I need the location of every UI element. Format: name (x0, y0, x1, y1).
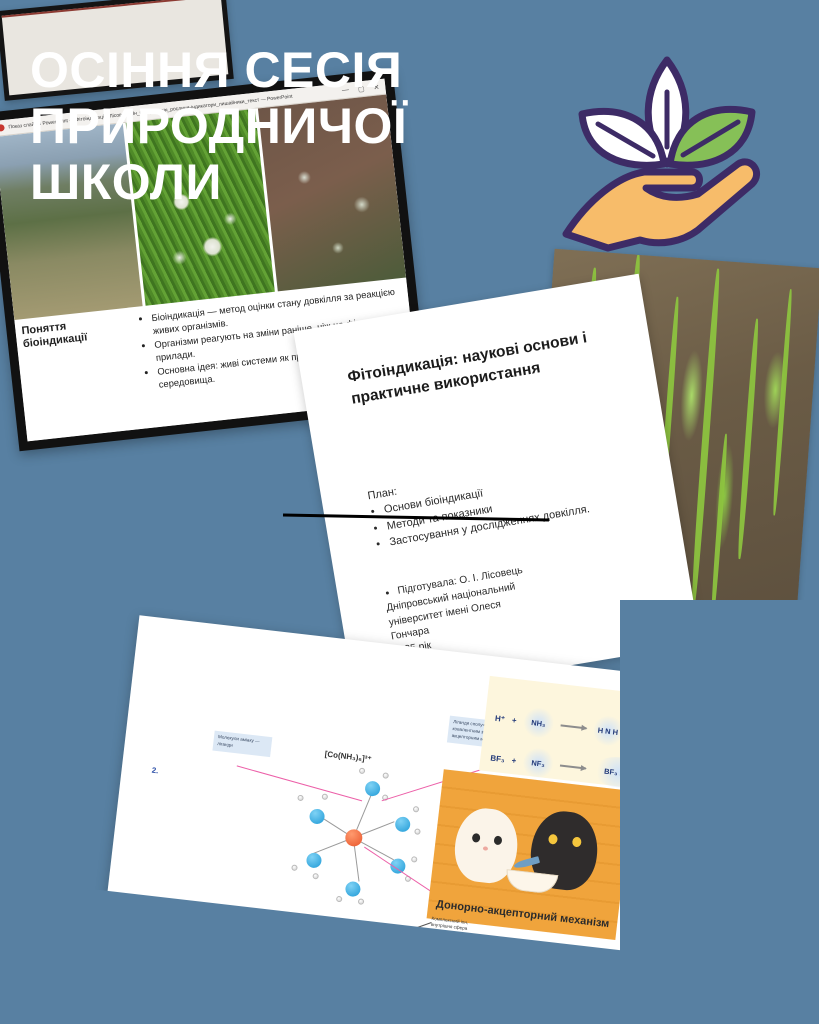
reaction-arrow-icon (560, 765, 586, 769)
nitrogen-ligand-atom (309, 808, 326, 825)
page-title: ОСІННЯ СЕСІЯ ПРИРОДНИЧОЇ ШКОЛИ (30, 42, 550, 210)
nitrogen-ligand-atom (394, 816, 411, 833)
powerpoint-icon (0, 124, 5, 132)
slide-heading: Поняття біоіндикації (21, 313, 147, 441)
phyto-plan-list: План: Основи біоіндикації Методи та пока… (366, 442, 657, 554)
reaction-reagent: BF₃ (490, 753, 505, 764)
callout-ligands: Молекули аміаку — ліганди (212, 731, 272, 757)
slide-item-number: 2. (151, 766, 159, 776)
reaction-arrow-icon (560, 725, 586, 729)
reaction-reagent: NF₃ (522, 746, 555, 779)
plus-sign: + (511, 715, 517, 724)
plus-sign: + (511, 755, 517, 764)
reaction-reagent: H⁺ (495, 713, 506, 723)
poster-canvas: ОСІННЯ СЕСІЯ ПРИРОДНИЧОЇ ШКОЛИ (0, 0, 819, 1024)
hand-holding-leaves-logo (552, 52, 782, 267)
donor-acceptor-cats-illustration: Донорно-акцепторний механізм (427, 769, 633, 940)
nitrogen-ligand-atom (306, 852, 323, 869)
reaction-reagent: NH₃ (522, 706, 555, 739)
nitrogen-ligand-atom (345, 881, 362, 898)
phyto-slide-title: Фітоіндикація: наукові основи і практичн… (346, 320, 634, 411)
nitrogen-ligand-atom (364, 780, 381, 797)
cobalt-central-atom (344, 828, 363, 847)
